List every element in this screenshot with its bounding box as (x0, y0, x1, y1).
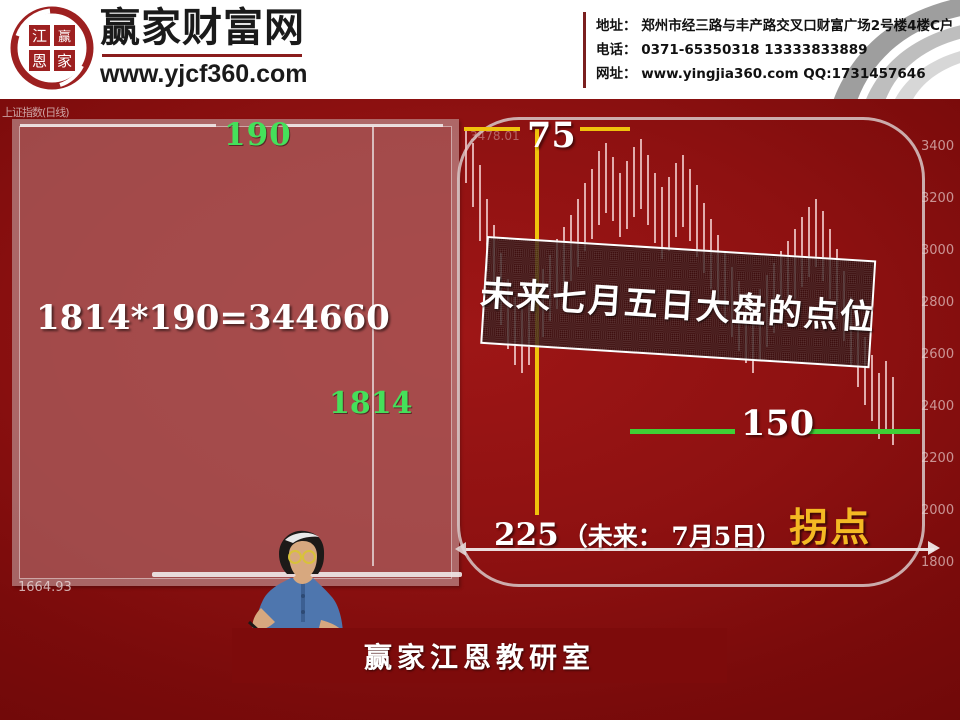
axis-tick-3400: 3400 (921, 139, 954, 154)
svg-text:江: 江 (32, 27, 47, 45)
label-1814: 1814 (329, 386, 413, 421)
contact-info: 地址： 郑州市经三路与丰产路交叉口财富广场2号楼4楼C户 电话： 0371-65… (596, 14, 956, 86)
left-chart-panel (12, 119, 459, 586)
axis-tick-2200: 2200 (921, 451, 954, 466)
header-vertical-divider (583, 12, 586, 88)
contact-address: 地址： 郑州市经三路与丰产路交叉口财富广场2号楼4楼C户 (596, 14, 956, 38)
left-chart-title: 上证指数(日线) (2, 104, 69, 120)
axis-tick-2400: 2400 (921, 399, 954, 414)
axis-tick-2000: 2000 (921, 503, 954, 518)
footer-banner-text: 赢家江恩教研室 (364, 636, 595, 676)
contact-phone: 电话： 0371-65350318 13333833889 (596, 38, 956, 62)
label-190: 190 (224, 117, 292, 153)
brand-name-cn: 赢家财富网 (100, 4, 400, 52)
label-high-price: 3478.01 (470, 129, 520, 143)
bottom-annotation: 225 （未来： 7月5日） 拐点 (494, 509, 934, 553)
footer-banner: 赢家江恩教研室 (232, 628, 727, 683)
green-span-line-left (630, 429, 735, 434)
label-75: 75 (527, 115, 576, 156)
label-turning-point: 拐点 (789, 497, 871, 553)
label-future-date: （未来： 7月5日） (563, 517, 782, 553)
caption-text: 未来七月五日大盘的点位 (479, 265, 877, 339)
axis-tick-1800: 1800 (921, 555, 954, 570)
slide-root: 江 赢 恩 家 赢家财富网 www.yjcf360.com 地址： 郑州市经三路… (0, 0, 960, 720)
svg-text:家: 家 (57, 52, 72, 70)
seal-logo-icon: 江 赢 恩 家 (10, 6, 94, 90)
left-chart-vertical-guide (372, 126, 374, 566)
left-arrow-icon (455, 542, 466, 556)
label-formula: 1814*190=344660 (36, 298, 390, 338)
svg-text:恩: 恩 (32, 52, 47, 70)
green-span-line-right (808, 429, 920, 434)
page-header: 江 赢 恩 家 赢家财富网 www.yjcf360.com 地址： 郑州市经三路… (0, 0, 960, 99)
label-low-price: 1664.93 (18, 580, 72, 595)
axis-tick-2800: 2800 (921, 295, 954, 310)
brand-website: www.yjcf360.com (100, 60, 400, 88)
brand-divider (102, 54, 302, 57)
label-225: 225 (494, 517, 559, 553)
left-chart-span-line-left (20, 124, 216, 127)
axis-tick-3200: 3200 (921, 191, 954, 206)
left-chart-span-line-right (283, 124, 443, 127)
left-chart-plot-area (19, 126, 452, 579)
label-150: 150 (741, 403, 814, 444)
contact-website: 网址： www.yingjia360.com QQ:1731457646 (596, 62, 956, 86)
yellow-span-line-right (580, 127, 630, 131)
axis-tick-2600: 2600 (921, 347, 954, 362)
price-axis: 3400 3200 3000 2800 2600 2400 2200 2000 … (921, 121, 960, 561)
brand-block: 赢家财富网 www.yjcf360.com (100, 4, 400, 88)
slide-canvas: 上证指数(日线) 190 1814*190=344660 1814 1664.9… (0, 99, 960, 720)
svg-text:赢: 赢 (58, 29, 71, 45)
axis-tick-3000: 3000 (921, 243, 954, 258)
